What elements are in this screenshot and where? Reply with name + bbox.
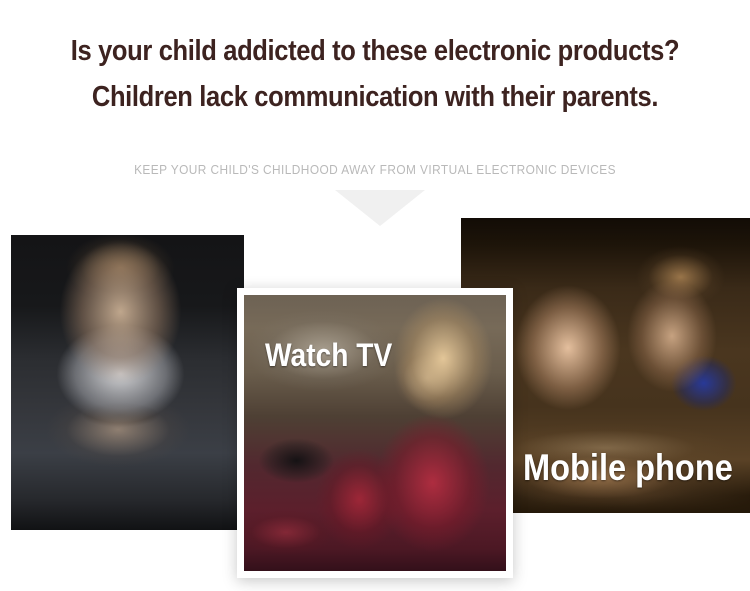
card-watch-tv[interactable]: Watch TV <box>237 288 513 578</box>
headline-line-1: Is your child addicted to these electron… <box>45 28 705 74</box>
watch-tv-frame-inner: Watch TV <box>244 295 506 571</box>
card-label-mobile-phone: Mobile phone <box>523 449 733 486</box>
play-games-photo <box>11 235 244 530</box>
promo-banner: Is your child addicted to these electron… <box>0 0 750 591</box>
headline-line-2: Children lack communication with their p… <box>45 74 705 120</box>
subtitle-text: KEEP YOUR CHILD'S CHILDHOOD AWAY FROM VI… <box>19 163 732 177</box>
triangle-down-icon <box>335 190 425 226</box>
card-play-games[interactable]: Play games <box>11 235 244 530</box>
card-label-watch-tv: Watch TV <box>265 339 392 371</box>
headline-block: Is your child addicted to these electron… <box>0 28 750 120</box>
